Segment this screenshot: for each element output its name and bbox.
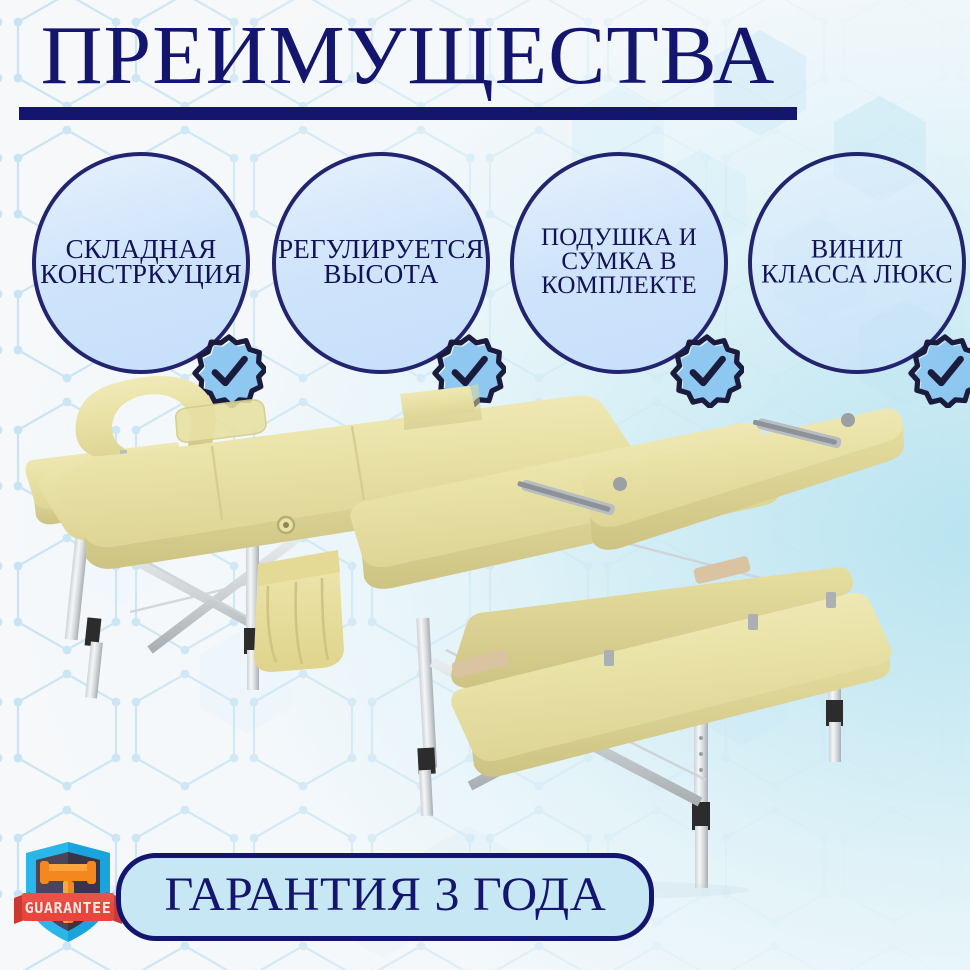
guarantee-pill[interactable]: ГАРАНТИЯ 3 ГОДА	[116, 853, 654, 941]
feature-label-line: КОНСТРКУЦИЯ	[26, 262, 256, 287]
guarantee-ribbon-label: GUARANTEE	[25, 899, 112, 917]
feature-label: ПОДУШКА И СУМКА В КОМПЛЕКТЕ	[504, 226, 734, 297]
guarantee-shield-gavel-icon: GUARANTEE	[12, 836, 124, 948]
side-pocket-organizer	[254, 550, 344, 672]
feature-label: ВИНИЛ КЛАССА ЛЮКС	[742, 237, 970, 286]
feature-label-line: КЛАССА ЛЮКС	[742, 262, 970, 287]
feature-label-line: ПОДУШКА И	[504, 226, 734, 250]
feature-label-line: СУМКА В	[504, 250, 734, 274]
feature-label-line: ВЫСОТА	[266, 262, 496, 287]
title-underline-bar	[19, 107, 797, 120]
page-title: ПРЕИМУЩЕСТВА	[0, 14, 824, 98]
feature-luxury-vinyl[interactable]: ВИНИЛ КЛАССА ЛЮКС	[748, 152, 966, 374]
feature-label: СКЛАДНАЯ КОНСТРКУЦИЯ	[26, 237, 256, 287]
page-title-block: ПРЕИМУЩЕСТВА	[0, 14, 816, 120]
guarantee-text: ГАРАНТИЯ 3 ГОДА	[164, 871, 606, 919]
feature-folding-construction[interactable]: СКЛАДНАЯ КОНСТРКУЦИЯ	[32, 152, 250, 374]
product-image-massage-table	[0, 350, 970, 910]
table-leg	[416, 618, 437, 817]
table-lower-rail	[451, 555, 891, 776]
feature-pillow-and-bag-included[interactable]: ПОДУШКА И СУМКА В КОМПЛЕКТЕ	[510, 152, 728, 374]
feature-label-line: КОМПЛЕКТЕ	[504, 273, 734, 297]
feature-label: РЕГУЛИРУЕТСЯ ВЫСОТА	[266, 237, 496, 287]
feature-adjustable-height[interactable]: РЕГУЛИРУЕТСЯ ВЫСОТА	[272, 152, 490, 374]
infographic-canvas: ПРЕИМУЩЕСТВА СКЛАДНАЯ КОНСТРКУЦИЯ	[0, 0, 970, 970]
guarantee-banner: GUARANTEE ГАРАНТИЯ 3 ГОДА	[8, 836, 708, 948]
